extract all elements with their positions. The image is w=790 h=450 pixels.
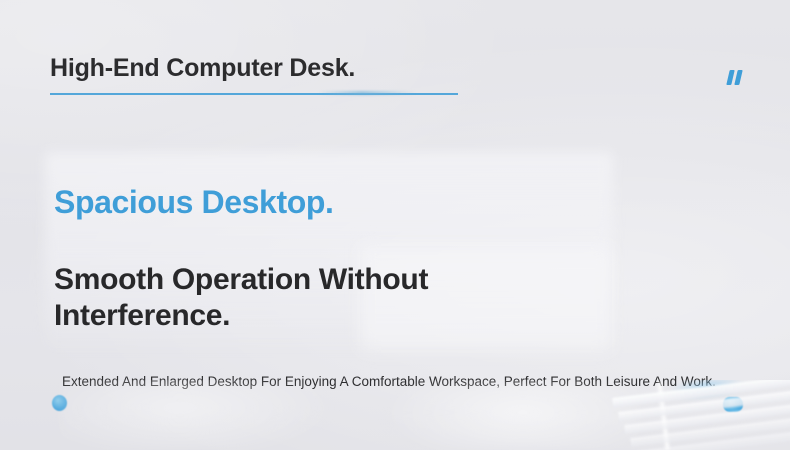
quote-mark-bar-1: [726, 70, 734, 85]
feature-kicker: Spacious Desktop.: [54, 184, 334, 221]
product-feature-banner: High-End Computer Desk. Spacious Desktop…: [0, 0, 790, 450]
quote-mark-bar-2: [734, 70, 742, 85]
page-title: High-End Computer Desk.: [50, 54, 355, 83]
title-underline-rule: [50, 93, 458, 95]
desk-slat-3: [624, 397, 790, 434]
product-haze-mid: [380, 382, 640, 450]
feature-headline: Smooth Operation Without Interference.: [54, 262, 574, 334]
desk-slat-4: [630, 410, 790, 447]
accent-dot-left-icon: [52, 395, 67, 411]
accent-dot-right-icon: [723, 397, 743, 412]
desk-slat-5: [636, 423, 790, 450]
feature-description: Extended And Enlarged Desktop For Enjoyi…: [62, 372, 722, 391]
desk-leg-shape: [656, 382, 671, 450]
quote-mark-icon: [726, 70, 746, 86]
